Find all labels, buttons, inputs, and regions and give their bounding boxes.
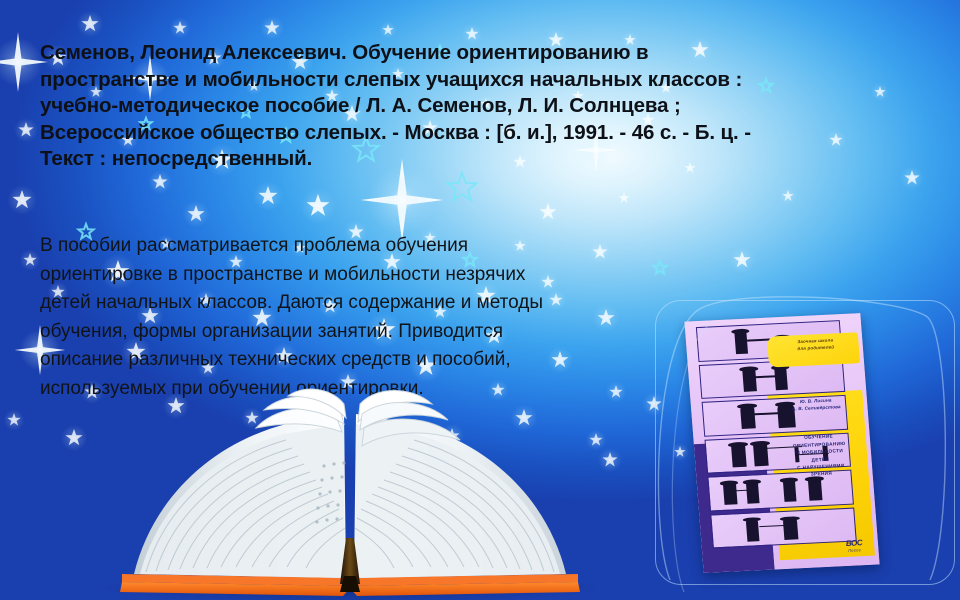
book-cover-photo: Заочная школа для родителей Ю. В. Лисина… [684,313,879,573]
title-line: Всероссийское общество слепых. - Москва … [40,120,930,147]
bibliographic-title: Семенов, Леонид Алексеевич. Обучение ори… [40,40,930,173]
title-line: пространстве и мобильности слепых учащих… [40,67,930,94]
title-line: учебно-методическое пособие / Л. А. Семе… [40,93,930,120]
cover-photo-panel [710,508,857,549]
annotation-text: В пособии рассматривается проблема обуче… [40,232,700,403]
annotation-line: описание различных технических средств и… [40,346,700,375]
publisher-logo-sub: Логос [846,548,862,554]
cover-banner-line: для родителей [797,344,834,351]
publisher-logo: ВОС Логос [846,540,863,554]
open-book-illustration [60,388,640,600]
annotation-line: обучения, формы организации занятий. При… [40,318,700,347]
annotation-line: В пособии рассматривается проблема обуче… [40,232,700,261]
book-cover-frame: Заочная школа для родителей Ю. В. Лисина… [655,300,955,585]
cover-title: ОБУЧЕНИЕ ОРИЕНТИРОВАНИЮ И МОБИЛЬНОСТИ ДЕ… [774,432,865,481]
annotation-line: ориентировке в пространстве и мобильност… [40,261,700,290]
title-line: Текст : непосредственный. [40,146,930,173]
cover-banner: Заочная школа для родителей [767,332,861,368]
title-line: Семенов, Леонид Алексеевич. Обучение ори… [40,40,930,67]
annotation-line: детей начальных классов. Даются содержан… [40,289,700,318]
presentation-slide: Семенов, Леонид Алексеевич. Обучение ори… [0,0,960,600]
cover-banner-text: Заочная школа для родителей [774,337,856,354]
